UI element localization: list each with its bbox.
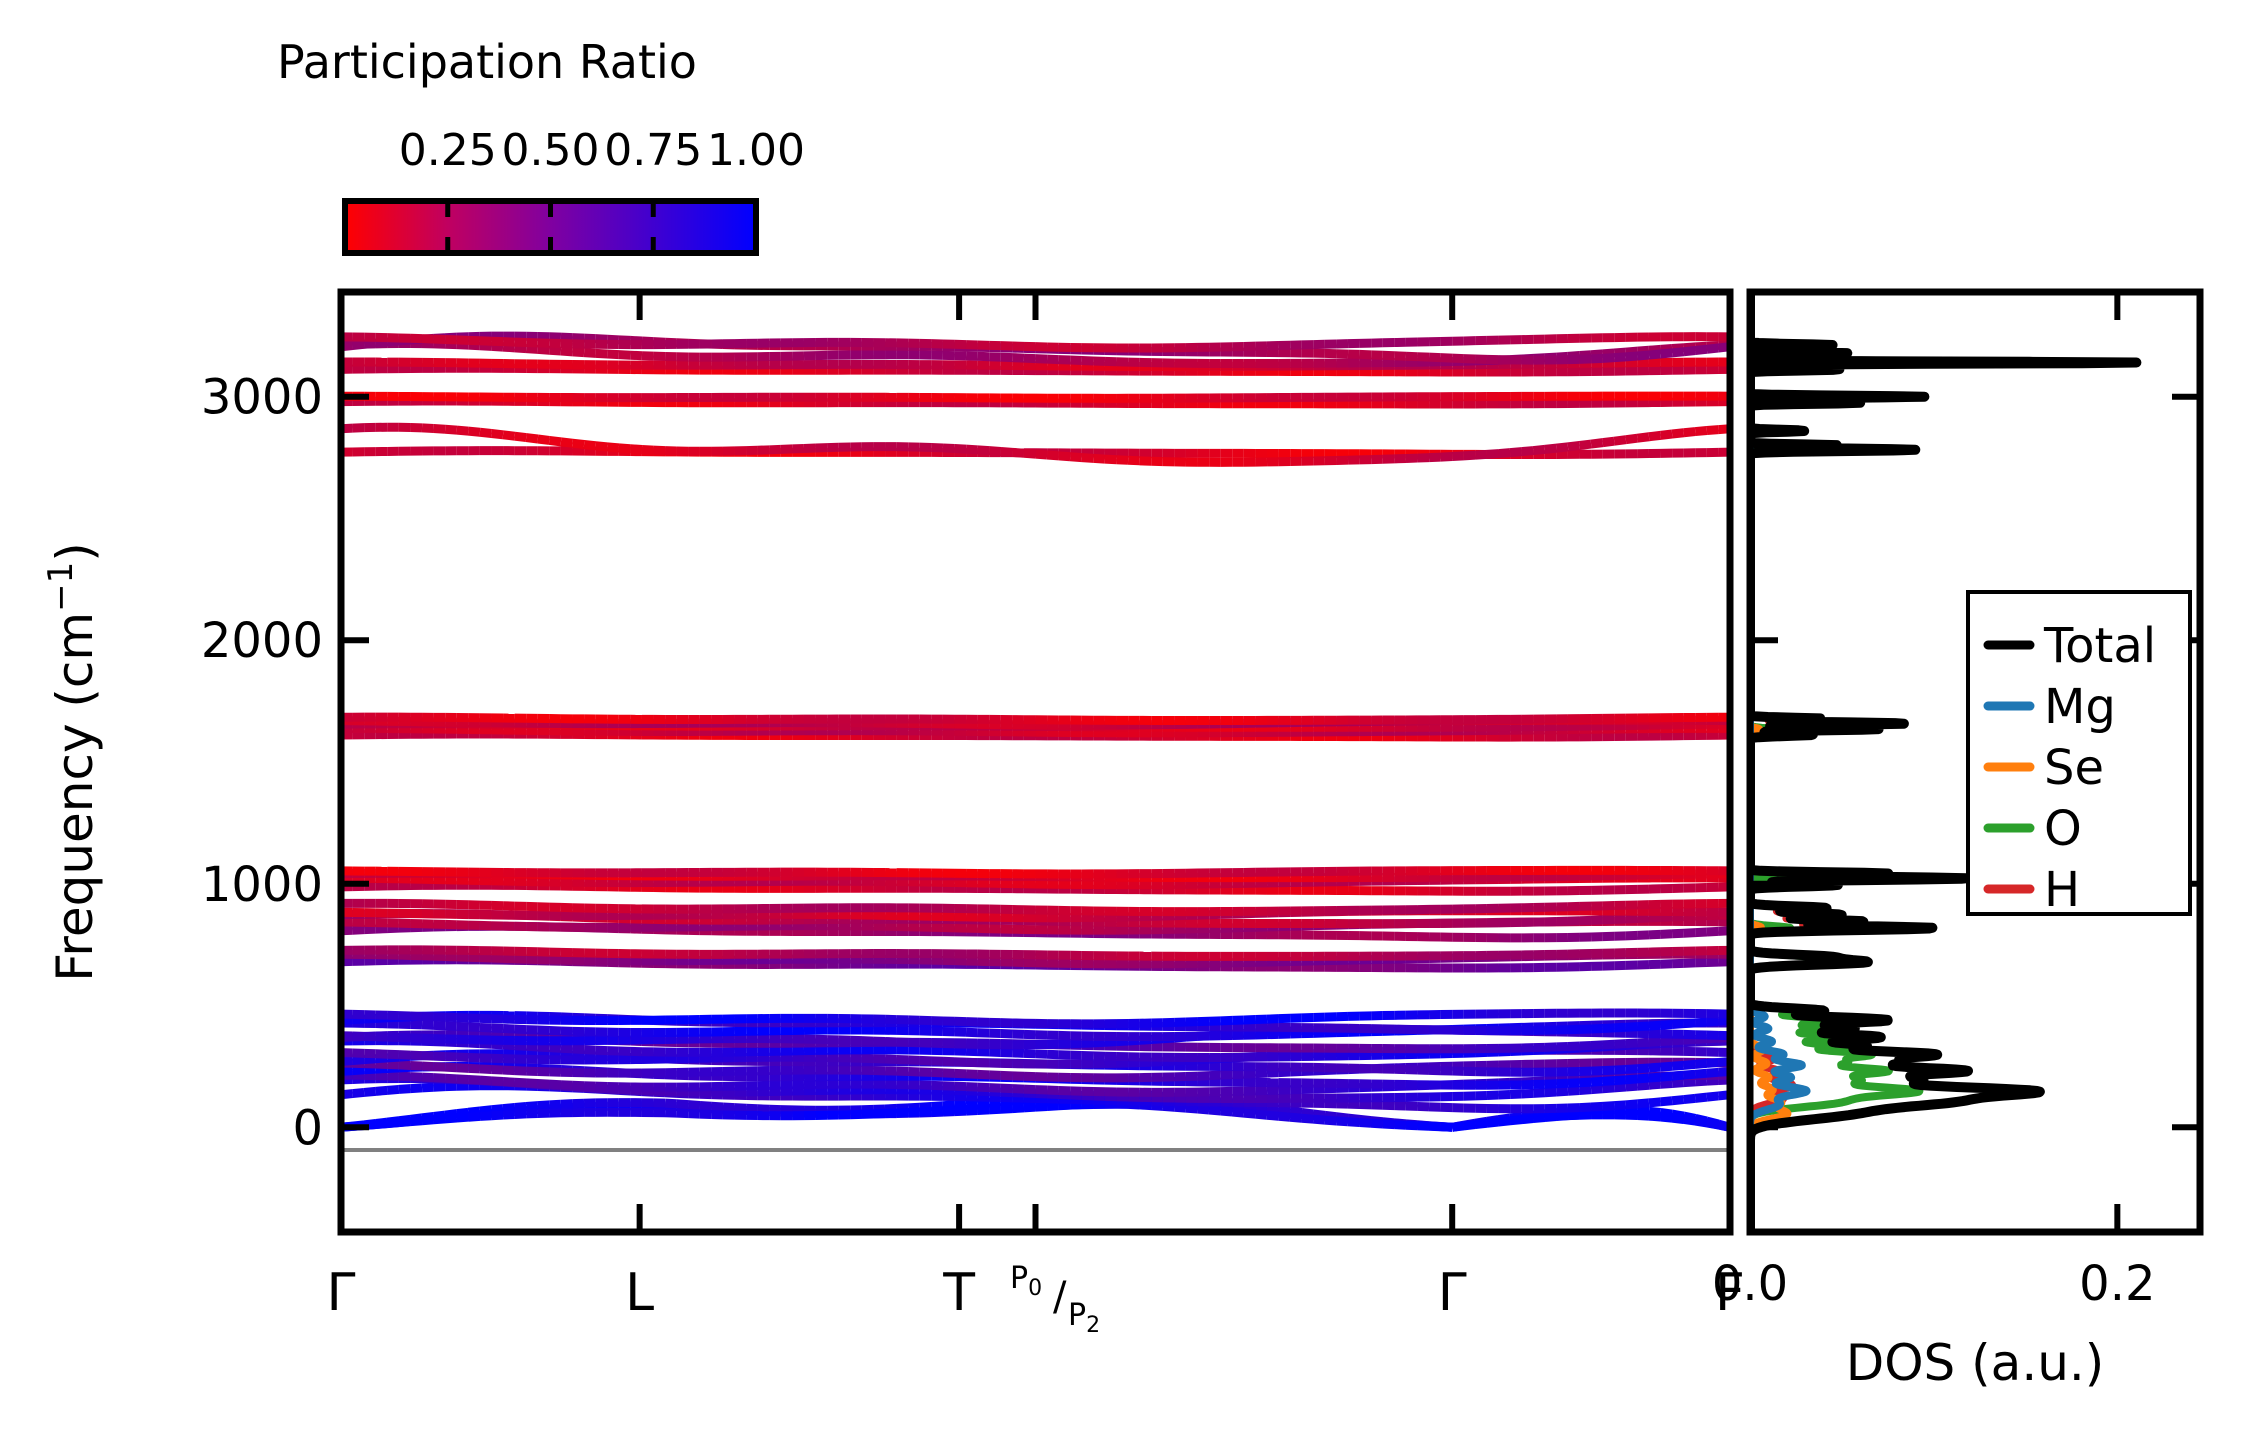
band-segment <box>1649 1025 1661 1026</box>
band-segment <box>561 351 573 352</box>
band-segment <box>1603 1028 1615 1029</box>
band-segment <box>1267 1108 1279 1110</box>
band-segment <box>364 929 376 930</box>
band-segment <box>1522 1119 1534 1120</box>
band-segment <box>1012 1107 1024 1108</box>
band-segment <box>468 1079 480 1080</box>
band-segment <box>1417 1126 1429 1127</box>
band-segment <box>1441 457 1453 458</box>
band-segment <box>1568 1115 1580 1116</box>
band-segment <box>607 447 619 448</box>
band-segment <box>526 1106 538 1107</box>
band-segment <box>480 1069 492 1070</box>
band-segment <box>1707 1062 1719 1063</box>
band-segment <box>1082 458 1094 459</box>
band-segment <box>723 1107 735 1108</box>
band-segment <box>1267 1115 1279 1116</box>
band-segment <box>561 442 573 443</box>
band-segment <box>1128 460 1140 461</box>
band-segment <box>1614 357 1626 358</box>
band-segment <box>1684 1082 1696 1083</box>
band-segment <box>538 1105 550 1106</box>
band-segment <box>457 1079 469 1080</box>
band-segment <box>353 1060 365 1061</box>
band-segment <box>1012 452 1024 453</box>
band-segment <box>549 1084 561 1085</box>
band-segment <box>1603 441 1615 442</box>
band-segment <box>1336 1121 1348 1122</box>
band-segment <box>1695 932 1707 933</box>
band-segment <box>1637 1042 1649 1043</box>
band-segment <box>989 451 1001 452</box>
band-segment <box>1522 451 1534 452</box>
band-segment <box>966 449 978 450</box>
band-segment <box>1591 443 1603 444</box>
band-segment <box>931 1111 943 1112</box>
band-segment <box>1464 455 1476 456</box>
band-segment <box>1545 1117 1557 1118</box>
band-segment <box>1279 1072 1291 1073</box>
band-segment <box>480 432 492 433</box>
band-segment <box>561 1104 573 1105</box>
band-segment <box>503 1029 515 1030</box>
band-segment <box>491 1028 503 1029</box>
band-segment <box>538 349 550 350</box>
band-segment <box>353 344 365 345</box>
band-segment <box>434 1078 446 1079</box>
colorbar-tick-label: 0.25 <box>399 125 497 176</box>
band-segment <box>1302 1112 1314 1113</box>
band-segment <box>515 1114 527 1115</box>
band-segment <box>1313 1119 1325 1120</box>
band-segment <box>1186 1108 1198 1109</box>
band-segment <box>1591 358 1603 359</box>
band-segment <box>573 1049 585 1050</box>
band-segment <box>376 1090 388 1091</box>
band-segment <box>1684 1119 1696 1121</box>
band-segment <box>897 1112 909 1113</box>
band-segment <box>503 435 515 436</box>
band-segment <box>1255 1114 1267 1115</box>
band-segment <box>1661 1076 1673 1077</box>
band-segment <box>1545 448 1557 449</box>
band-segment <box>515 1029 527 1030</box>
band-segment <box>1707 430 1719 431</box>
band-segment <box>1163 1106 1175 1107</box>
band-segment <box>1475 454 1487 455</box>
band-segment <box>549 440 561 441</box>
band-segment <box>561 1048 573 1049</box>
band-segment <box>422 1066 434 1067</box>
band-segment <box>515 436 527 437</box>
band-segment <box>515 1046 527 1047</box>
band-segment <box>1637 1103 1649 1104</box>
band-segment <box>1464 1125 1476 1126</box>
band-segment <box>1614 1044 1626 1045</box>
band-segment <box>1360 1123 1372 1124</box>
band-segment <box>1545 1092 1557 1093</box>
band-segment <box>1707 1096 1719 1097</box>
band-segment <box>1452 1126 1464 1127</box>
band-segment <box>434 1067 446 1068</box>
band-segment <box>711 1106 723 1107</box>
band-segment <box>1614 1087 1626 1088</box>
band-segment <box>422 1077 434 1078</box>
band-segment <box>399 1089 411 1090</box>
band-segment <box>978 1102 990 1103</box>
band-segment <box>364 1069 376 1070</box>
band-segment <box>943 1110 955 1111</box>
band-segment <box>538 1047 550 1048</box>
band-segment <box>1707 1081 1719 1082</box>
band-segment <box>1580 444 1592 445</box>
band-segment <box>1649 934 1661 935</box>
band-segment <box>515 1107 527 1108</box>
band-segment <box>1649 1077 1661 1078</box>
band-segment <box>1695 1063 1707 1064</box>
band-segment <box>1522 1093 1534 1094</box>
band-segment <box>376 929 388 930</box>
band-segment <box>1672 1083 1684 1084</box>
band-segment <box>1672 1040 1684 1041</box>
band-segment <box>1510 452 1522 453</box>
band-segment <box>1695 349 1707 350</box>
band-segment <box>1267 1073 1279 1074</box>
band-segment <box>966 1103 978 1104</box>
band-segment <box>1580 1107 1592 1108</box>
band-segment <box>1661 353 1673 354</box>
band-segment <box>1001 451 1013 452</box>
band-segment <box>1684 1039 1696 1040</box>
band-segment <box>1626 1043 1638 1044</box>
band-segment <box>1695 1097 1707 1098</box>
band-segment <box>387 1123 399 1124</box>
band-segment <box>468 431 480 432</box>
band-segment <box>1661 1024 1673 1025</box>
band-segment <box>966 1074 978 1075</box>
band-segment <box>480 1027 492 1028</box>
colorbar-tick-label: 0.50 <box>502 125 600 176</box>
band-segment <box>1614 1069 1626 1070</box>
band-segment <box>1001 1088 1013 1089</box>
band-segment <box>978 450 990 451</box>
band-segment <box>688 1105 700 1106</box>
band-segment <box>1093 1042 1105 1043</box>
band-segment <box>1059 456 1071 457</box>
band-segment <box>1695 1022 1707 1023</box>
band-segment <box>1105 1042 1117 1043</box>
band-segment <box>1174 1107 1186 1108</box>
band-segment <box>1603 358 1615 359</box>
band-segment <box>1348 1122 1360 1123</box>
band-segment <box>1070 457 1082 458</box>
band-segment <box>1487 454 1499 455</box>
band-segment <box>1672 1117 1684 1119</box>
band-segment <box>619 355 631 356</box>
band-segment <box>1637 1114 1649 1115</box>
band-segment <box>1661 1116 1673 1117</box>
band-segment <box>954 1110 966 1111</box>
band-segment <box>1684 1098 1696 1099</box>
band-segment <box>526 1083 538 1084</box>
band-segment <box>353 1070 365 1071</box>
band-segment <box>1626 438 1638 439</box>
band-segment <box>1290 1117 1302 1118</box>
band-segment <box>1394 1125 1406 1126</box>
band-segment <box>1591 1089 1603 1090</box>
band-segment <box>549 1104 561 1105</box>
figure-root: Participation Ratio 0.250.500.751.00 010… <box>0 0 2259 1455</box>
band-segment <box>1406 1125 1418 1126</box>
band-segment <box>491 433 503 434</box>
band-segment <box>480 1116 492 1117</box>
band-segment <box>1707 1072 1719 1073</box>
band-segment <box>954 1104 966 1105</box>
band-segment <box>1568 1090 1580 1091</box>
band-segment <box>735 1108 747 1109</box>
band-segment <box>1556 1091 1568 1092</box>
band-segment <box>1047 455 1059 456</box>
band-segment <box>1429 457 1441 458</box>
band-segment <box>584 338 596 339</box>
band-segment <box>1499 453 1511 454</box>
band-segment <box>1684 432 1696 433</box>
band-segment <box>561 1085 573 1086</box>
band-segment <box>1614 440 1626 441</box>
band-segment <box>1383 1124 1395 1125</box>
band-segment <box>1661 934 1673 935</box>
band-segment <box>1580 1082 1592 1083</box>
band-segment <box>1695 1073 1707 1074</box>
band-segment <box>1452 456 1464 457</box>
band-segment <box>746 1108 758 1109</box>
band-segment <box>468 345 480 346</box>
band-segment <box>1487 1122 1499 1123</box>
band-segment <box>1603 1070 1615 1071</box>
band-segment <box>1510 1120 1522 1121</box>
band-segment <box>468 1027 480 1028</box>
band-segment <box>1302 1118 1314 1119</box>
band-segment <box>1614 1080 1626 1081</box>
band-segment <box>1637 1078 1649 1079</box>
band-segment <box>1290 1111 1302 1113</box>
band-segment <box>457 1117 469 1118</box>
band-segment <box>1672 433 1684 434</box>
band-segment <box>1371 1123 1383 1124</box>
band-segment <box>399 1065 411 1066</box>
band-segment <box>1661 434 1673 435</box>
band-segment <box>1707 348 1719 349</box>
band-segment <box>573 338 585 339</box>
band-segment <box>353 1092 365 1093</box>
band-segment <box>1117 460 1129 461</box>
band-segment <box>1024 453 1036 454</box>
band-segment <box>445 1026 457 1027</box>
band-segment <box>1580 1045 1592 1046</box>
band-segment <box>1637 1085 1649 1086</box>
band-segment <box>1499 1121 1511 1122</box>
band-segment <box>573 443 585 444</box>
band-segment <box>1684 1064 1696 1065</box>
band-segment <box>1533 449 1545 450</box>
band-segment <box>1475 1123 1487 1124</box>
band-segment <box>434 1119 446 1120</box>
band-segment <box>1626 1104 1638 1105</box>
band-segment <box>457 1026 469 1027</box>
band-segment <box>966 1109 978 1110</box>
band-segment <box>665 1103 677 1104</box>
band-segment <box>1684 1023 1696 1024</box>
band-segment <box>1580 1090 1592 1091</box>
band-segment <box>989 1088 1001 1089</box>
band-segment <box>1325 1120 1337 1121</box>
band-segment <box>503 1082 515 1083</box>
band-segment <box>1672 352 1684 353</box>
band-segment <box>1649 1102 1661 1103</box>
band-segment <box>480 346 492 347</box>
band-segment <box>1626 1027 1638 1028</box>
band-segment <box>353 930 365 931</box>
band-segment <box>700 1105 712 1106</box>
band-segment <box>1661 1066 1673 1067</box>
band-segment <box>1244 1074 1256 1075</box>
phonon-figure: Participation Ratio 0.250.500.751.00 010… <box>0 0 2259 1455</box>
band-segment <box>1603 1106 1615 1107</box>
band-segment <box>1672 1024 1684 1025</box>
band-segment <box>422 1087 434 1088</box>
band-segment <box>1510 1094 1522 1095</box>
band-segment <box>1684 351 1696 352</box>
band-segment <box>1232 1074 1244 1075</box>
band-segment <box>607 354 619 355</box>
band-segment <box>445 1078 457 1079</box>
band-segment <box>1568 445 1580 446</box>
band-segment <box>410 1088 422 1089</box>
band-segment <box>491 1070 503 1071</box>
band-segment <box>480 1080 492 1081</box>
band-segment <box>503 1045 515 1046</box>
band-segment <box>1649 435 1661 436</box>
band-segment <box>364 343 376 344</box>
band-segment <box>989 1108 1001 1109</box>
band-segment <box>1707 1123 1719 1125</box>
band-segment <box>1603 1081 1615 1082</box>
band-segment <box>1695 1081 1707 1082</box>
band-segment <box>1661 1041 1673 1042</box>
band-segment <box>1695 1121 1707 1123</box>
band-segment <box>1707 931 1719 932</box>
band-segment <box>1221 1111 1233 1112</box>
band-segment <box>1626 1079 1638 1080</box>
band-segment <box>538 439 550 440</box>
band-segment <box>1649 1042 1661 1043</box>
band-segment <box>1105 459 1117 460</box>
band-segment <box>1580 1114 1592 1115</box>
band-segment <box>457 1068 469 1069</box>
band-segment <box>387 1089 399 1090</box>
band-segment <box>1637 1068 1649 1069</box>
band-segment <box>1591 1045 1603 1046</box>
band-segment <box>1707 1021 1719 1022</box>
band-segment <box>468 1116 480 1117</box>
band-segment <box>573 352 585 353</box>
band-segment <box>503 1114 515 1115</box>
band-segment <box>515 348 527 349</box>
band-segment <box>1036 454 1048 455</box>
band-segment <box>1533 1093 1545 1094</box>
band-segment <box>491 1115 503 1116</box>
band-segment <box>515 1082 527 1083</box>
band-segment <box>376 1124 388 1125</box>
band-segment <box>1649 354 1661 355</box>
band-segment <box>954 448 966 449</box>
band-segment <box>491 1109 503 1110</box>
band-segment <box>410 1065 422 1066</box>
band-segment <box>480 1110 492 1111</box>
band-segment <box>943 448 955 449</box>
band-segment <box>445 1067 457 1068</box>
band-segment <box>978 1108 990 1109</box>
band-segment <box>596 446 608 447</box>
band-segment <box>1672 933 1684 934</box>
colorbar-title: Participation Ratio <box>277 35 697 89</box>
band-segment <box>526 349 538 350</box>
band-segment <box>954 1073 966 1074</box>
band-segment <box>1591 1081 1603 1082</box>
band-segment <box>526 438 538 439</box>
band-segment <box>376 342 388 343</box>
band-segment <box>1429 1126 1441 1127</box>
band-segment <box>607 339 619 340</box>
band-segment <box>1637 437 1649 438</box>
band-segment <box>549 350 561 351</box>
band-segment <box>526 1046 538 1047</box>
band-segment <box>920 1111 932 1112</box>
band-segment <box>491 1081 503 1082</box>
band-segment <box>619 448 631 449</box>
band-segment <box>538 1084 550 1085</box>
band-segment <box>1626 356 1638 357</box>
band-segment <box>399 1122 411 1123</box>
colorbar-tick-label: 0.75 <box>604 125 702 176</box>
band-segment <box>1209 1110 1221 1111</box>
band-segment <box>422 428 434 429</box>
band-segment <box>584 1050 596 1051</box>
band-segment <box>1279 1109 1291 1111</box>
band-segment <box>1279 1116 1291 1117</box>
band-segment <box>943 1105 955 1106</box>
band-segment <box>1695 431 1707 432</box>
band-segment <box>1649 1115 1661 1116</box>
band-segment <box>1649 1067 1661 1068</box>
band-segment <box>434 428 446 429</box>
band-segment <box>1684 1074 1696 1075</box>
band-segment <box>584 353 596 354</box>
band-segment <box>1672 1075 1684 1076</box>
band-segment <box>445 429 457 430</box>
band-segment <box>1556 447 1568 448</box>
band-segment <box>1649 1084 1661 1085</box>
band-segment <box>503 1108 515 1109</box>
band-segment <box>642 450 654 451</box>
band-segment <box>491 346 503 347</box>
band-segment <box>364 1059 376 1060</box>
band-segment <box>677 1104 689 1105</box>
band-segment <box>1684 933 1696 934</box>
band-segment <box>1255 1073 1267 1074</box>
band-segment <box>503 1070 515 1071</box>
band-segment <box>1614 1027 1626 1028</box>
